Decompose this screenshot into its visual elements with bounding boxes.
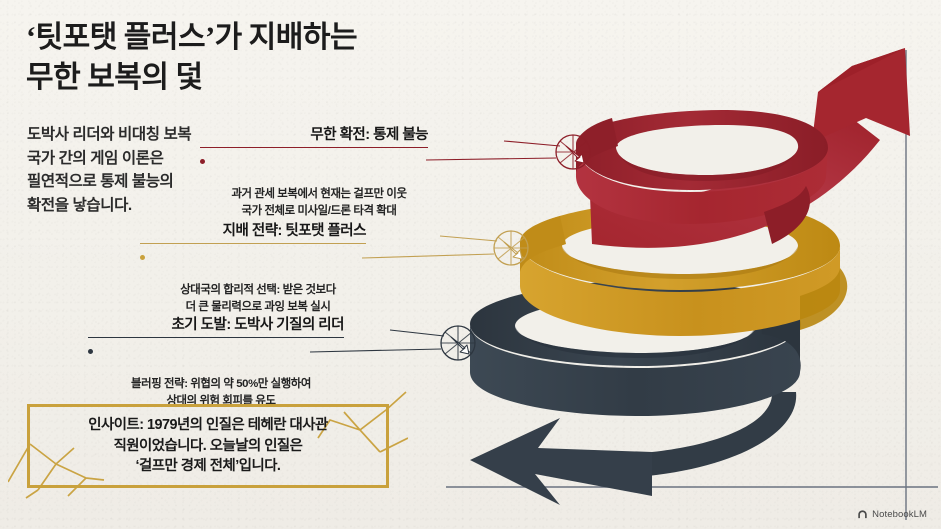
crossed-arrows-emblem-red <box>556 135 590 169</box>
annotation-escalation-heading: 무한 확전: 통제 불능 <box>200 123 428 147</box>
notebooklm-watermark: NotebookLM <box>857 509 927 520</box>
annotation-escalation-body: 과거 관세 보복에서 현재는 걸프만 이웃 국가 전체로 미사일/드론 타격 확… <box>200 153 428 219</box>
annotation-strategy-body: 상대국의 합리적 선택: 받은 것보다 더 큰 물리력으로 과잉 보복 실시 <box>140 249 366 315</box>
notebooklm-logo-icon <box>857 509 868 520</box>
annotation-escalation: 무한 확전: 통제 불능 과거 관세 보복에서 현재는 걸프만 이웃 국가 전체… <box>200 123 428 220</box>
annotation-escalation-text: 과거 관세 보복에서 현재는 걸프만 이웃 국가 전체로 미사일/드론 타격 확… <box>231 188 406 217</box>
bullet-dot-escalation <box>200 159 205 164</box>
annotation-provocation-text: 블러핑 전략: 위협의 약 50%만 실행하여 상대의 위험 회피를 유도 <box>131 378 311 407</box>
annotation-provocation: 초기 도발: 도박사 기질의 리더 블러핑 전략: 위협의 약 50%만 실행하… <box>88 313 344 410</box>
annotation-strategy: 지배 전략: 팃포탯 플러스 상대국의 합리적 선택: 받은 것보다 더 큰 물… <box>140 219 366 316</box>
insight-text: 인사이트: 1979년의 인질은 테헤란 대사관 직원이었습니다. 오늘날의 인… <box>88 415 327 476</box>
annotation-provocation-rule <box>88 337 344 338</box>
annotation-strategy-heading: 지배 전략: 팃포탯 플러스 <box>140 219 366 243</box>
page-title: ‘팃포탯 플러스’가 지배하는 무한 보복의 덫 <box>26 18 496 98</box>
bullet-dot-provocation <box>88 349 93 354</box>
annotation-strategy-text: 상대국의 합리적 선택: 받은 것보다 더 큰 물리력으로 과잉 보복 실시 <box>180 284 336 313</box>
infographic-canvas: ‘팃포탯 플러스’가 지배하는 무한 보복의 덫 도박사 리더와 비대칭 보복 … <box>0 0 941 529</box>
spiral-band-red <box>576 48 910 248</box>
annotation-provocation-body: 블러핑 전략: 위협의 약 50%만 실행하여 상대의 위험 회피를 유도 <box>88 343 344 409</box>
insight-box: 인사이트: 1979년의 인질은 테헤란 대사관 직원이었습니다. 오늘날의 인… <box>27 404 389 488</box>
crossed-arrows-emblem-navy <box>441 326 475 360</box>
annotation-escalation-rule <box>200 147 428 148</box>
bullet-dot-strategy <box>140 255 145 260</box>
notebooklm-label: NotebookLM <box>872 509 927 520</box>
annotation-strategy-rule <box>140 243 366 244</box>
crossed-arrows-emblem-gold <box>494 231 528 265</box>
annotation-provocation-heading: 초기 도발: 도박사 기질의 리더 <box>88 313 344 337</box>
connector-escalation <box>426 135 590 169</box>
connector-strategy <box>362 231 528 265</box>
